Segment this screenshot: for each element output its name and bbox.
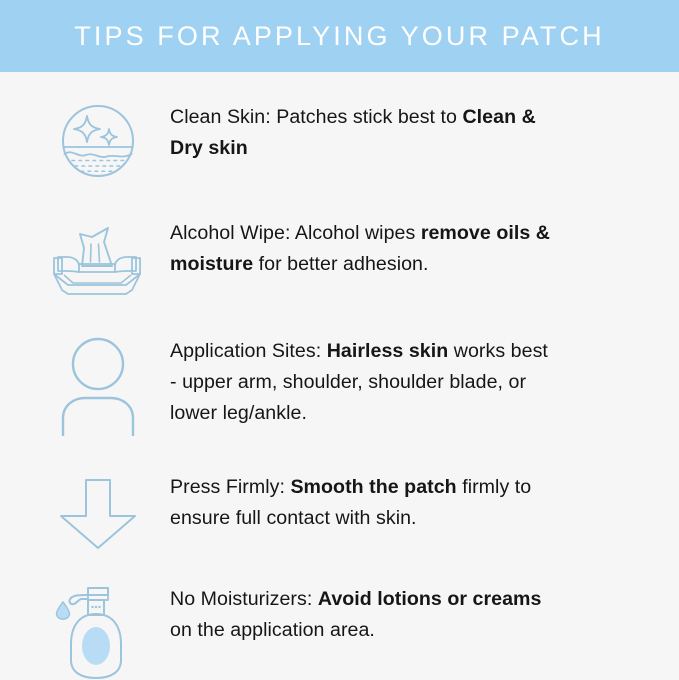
tip-text-plain: Clean Skin: Patches stick best to	[170, 106, 462, 128]
tip-text-plain: Application Sites:	[170, 340, 327, 362]
tip-text-line: Alcohol Wipe: Alcohol wipes remove oils …	[170, 218, 643, 249]
tip-text-line: Application Sites: Hairless skin works b…	[170, 336, 643, 367]
person-icon	[44, 336, 152, 436]
tip-text-emphasis: moisture	[170, 253, 253, 275]
down-arrow-icon	[44, 472, 152, 550]
tip-text-plain: Press Firmly:	[170, 476, 290, 498]
wipe-box-icon	[44, 218, 152, 298]
tip-item-application-sites: Application Sites: Hairless skin works b…	[0, 336, 679, 436]
tip-text-plain: ensure full contact with skin.	[170, 507, 417, 529]
tip-text-line: lower leg/ankle.	[170, 398, 643, 429]
tip-text-plain: works best	[448, 340, 548, 362]
tip-text-emphasis: Smooth the patch	[290, 476, 456, 498]
tip-text-line: - upper arm, shoulder, shoulder blade, o…	[170, 367, 643, 398]
tip-text-no-moisturizers: No Moisturizers: Avoid lotions or creams…	[152, 584, 643, 646]
lotion-bottle-icon	[44, 584, 152, 680]
tip-text-line: No Moisturizers: Avoid lotions or creams	[170, 584, 643, 615]
tip-text-emphasis: Clean &	[462, 106, 535, 128]
tip-text-plain: lower leg/ankle.	[170, 402, 307, 424]
tip-text-plain: No Moisturizers:	[170, 588, 318, 610]
tip-text-application-sites: Application Sites: Hairless skin works b…	[152, 336, 643, 429]
tips-list: Clean Skin: Patches stick best to Clean …	[0, 72, 679, 680]
tip-text-clean-skin: Clean Skin: Patches stick best to Clean …	[152, 102, 643, 164]
tip-text-plain: firmly to	[457, 476, 532, 498]
tip-text-alcohol-wipe: Alcohol Wipe: Alcohol wipes remove oils …	[152, 218, 643, 280]
page-title: TIPS FOR APPLYING YOUR PATCH	[74, 21, 604, 52]
header-band: TIPS FOR APPLYING YOUR PATCH	[0, 0, 679, 72]
tip-text-emphasis: Avoid lotions or creams	[318, 588, 542, 610]
tip-text-plain: on the application area.	[170, 619, 375, 641]
tip-item-no-moisturizers: No Moisturizers: Avoid lotions or creams…	[0, 584, 679, 680]
tip-text-line: on the application area.	[170, 615, 643, 646]
tip-text-line: ensure full contact with skin.	[170, 503, 643, 534]
tip-text-emphasis: remove oils &	[421, 222, 550, 244]
tip-text-line: moisture for better adhesion.	[170, 249, 643, 280]
tip-text-emphasis: Hairless skin	[327, 340, 449, 362]
tip-text-line: Clean Skin: Patches stick best to Clean …	[170, 102, 643, 133]
tip-item-press-firmly: Press Firmly: Smooth the patch firmly to…	[0, 472, 679, 550]
tip-text-line: Press Firmly: Smooth the patch firmly to	[170, 472, 643, 503]
tip-text-plain: - upper arm, shoulder, shoulder blade, o…	[170, 371, 526, 393]
tip-item-alcohol-wipe: Alcohol Wipe: Alcohol wipes remove oils …	[0, 218, 679, 298]
tip-text-emphasis: Dry skin	[170, 137, 248, 159]
tip-text-line: Dry skin	[170, 133, 643, 164]
tips-infographic: TIPS FOR APPLYING YOUR PATCH Clea	[0, 0, 679, 679]
clean-skin-icon	[44, 102, 152, 180]
tip-text-press-firmly: Press Firmly: Smooth the patch firmly to…	[152, 472, 643, 534]
tip-text-plain: for better adhesion.	[253, 253, 428, 275]
tip-item-clean-skin: Clean Skin: Patches stick best to Clean …	[0, 102, 679, 180]
tip-text-plain: Alcohol Wipe: Alcohol wipes	[170, 222, 421, 244]
